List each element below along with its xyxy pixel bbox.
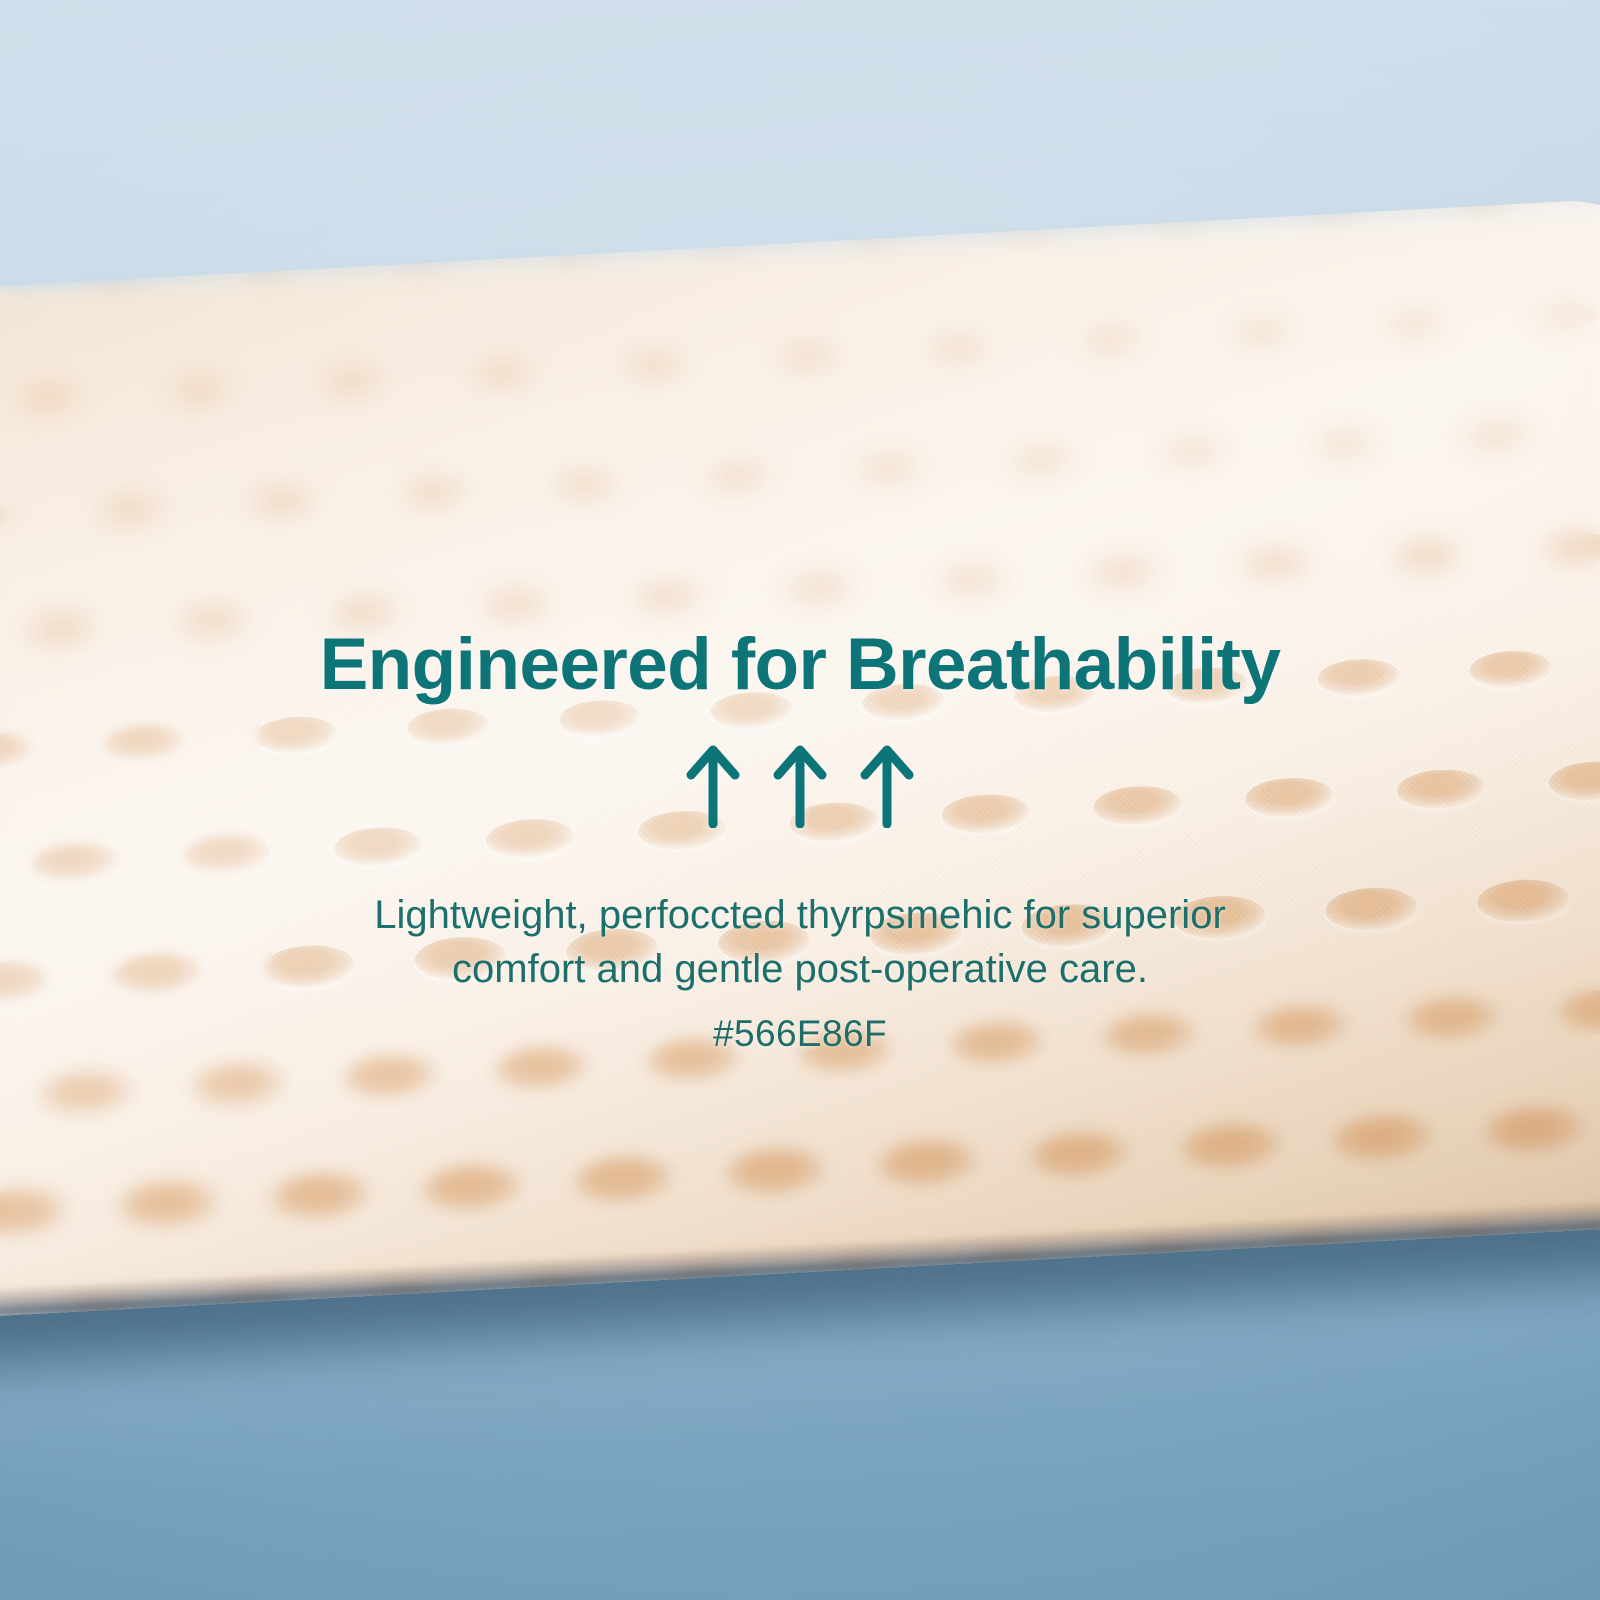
breathability-arrows [0,742,1600,828]
subtitle-line-2: comfort and gentle post-operative care. [0,942,1600,996]
image-canvas: Engineered for Breathability [0,0,1600,1600]
arrow-up-icon [684,742,742,828]
text-overlay: Engineered for Breathability [0,0,1600,1600]
arrow-up-icon [858,742,916,828]
subtitle-line-1: Lightweight, perfoccted thyrpsmehic for … [0,888,1600,942]
subtitle: Lightweight, perfoccted thyrpsmehic for … [0,888,1600,997]
page-title: Engineered for Breathability [0,628,1600,701]
arrow-up-icon [771,742,829,828]
hex-code-label: #566E86F [0,1013,1600,1055]
